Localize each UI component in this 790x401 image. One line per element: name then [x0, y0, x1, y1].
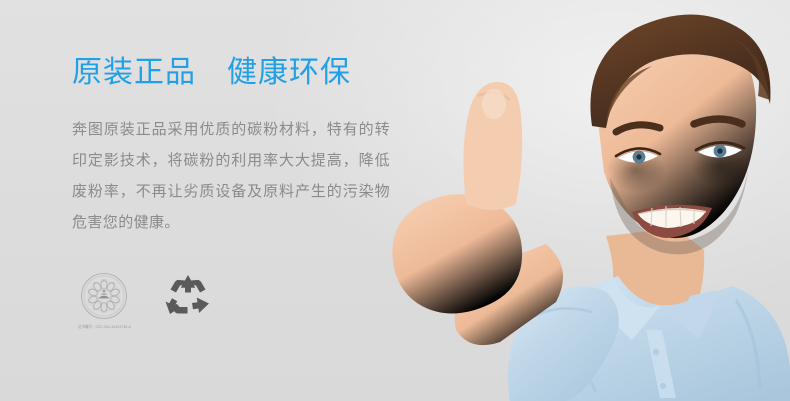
certificate-number-caption: 证书编号：CEC-004-32403745-A: [78, 324, 131, 331]
copy-block: 原装正品 健康环保 奔图原装正品采用优质的碳粉材料，特有的转印定影技术，将碳粉的…: [72, 52, 402, 238]
china-environmental-label-seal-icon: [80, 272, 128, 320]
promo-banner: 原装正品 健康环保 奔图原装正品采用优质的碳粉材料，特有的转印定影技术，将碳粉的…: [0, 0, 790, 401]
certification-badges: 证书编号：CEC-004-32403745-A: [78, 272, 213, 330]
thumbs-up-man-photo: [360, 0, 790, 401]
recycle-icon: [163, 272, 213, 318]
page-title: 原装正品 健康环保: [72, 52, 402, 94]
recycle-group: [163, 272, 213, 318]
eco-seal-group: 证书编号：CEC-004-32403745-A: [78, 272, 131, 330]
description-text: 奔图原装正品采用优质的碳粉材料，特有的转印定影技术，将碳粉的利用率大大提高，降低…: [72, 114, 390, 238]
